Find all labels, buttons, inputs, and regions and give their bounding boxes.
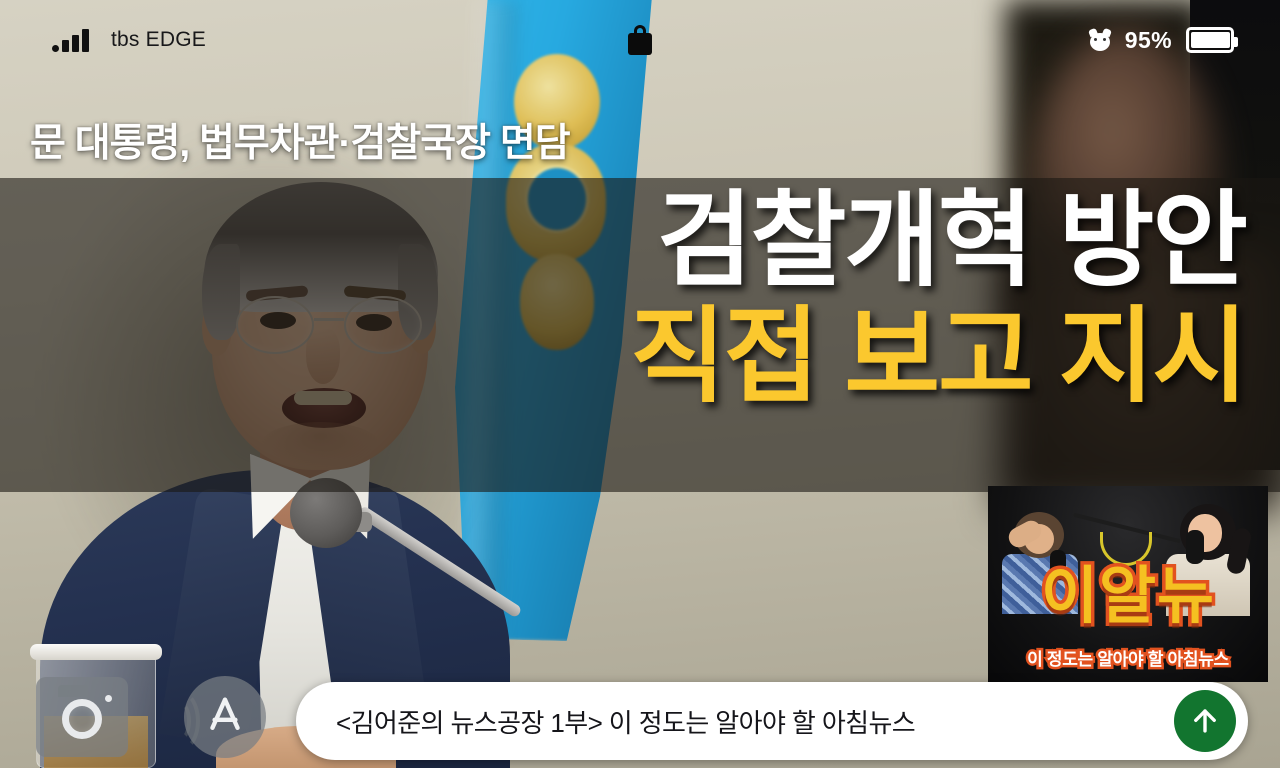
kicker-headline: 문 대통령, 법무차관·검찰국장 면담: [30, 112, 570, 168]
show-logo-name: 이알뉴: [988, 566, 1268, 628]
camera-icon[interactable]: [36, 677, 128, 757]
dock-icons: [36, 676, 266, 758]
app-store-icon[interactable]: [184, 676, 266, 758]
status-bar: tbs EDGE 95%: [0, 0, 1280, 80]
alarm-clock-icon: [1089, 29, 1111, 51]
carrier-label: tbs EDGE: [111, 28, 206, 52]
show-logo-tagline: 이 정도는 알아야 할 아침뉴스: [1027, 645, 1229, 670]
lock-icon: [628, 25, 652, 55]
battery-percent-label: 95%: [1125, 27, 1172, 54]
arrow-up-icon[interactable]: [1174, 690, 1236, 752]
now-playing-title: <김어준의 뉴스공장 1부> 이 정도는 알아야 할 아침뉴스: [336, 703, 915, 740]
main-title-line-2: 직접 보고 지시: [630, 302, 1246, 412]
battery-icon: [1186, 27, 1234, 53]
main-title-line-1: 검찰개혁 방안: [630, 186, 1246, 296]
now-playing-bar[interactable]: <김어준의 뉴스공장 1부> 이 정도는 알아야 할 아침뉴스: [296, 682, 1248, 760]
signal-bars-icon: [52, 28, 89, 52]
main-title: 검찰개혁 방안 직접 보고 지시: [630, 186, 1246, 412]
phone-screen: tbs EDGE 95% 문 대통령, 법무차관·검찰국장 면담 검찰개혁 방안…: [0, 0, 1280, 768]
show-logo-overlay: 이알뉴 이 정도는 알아야 할 아침뉴스: [988, 486, 1268, 682]
